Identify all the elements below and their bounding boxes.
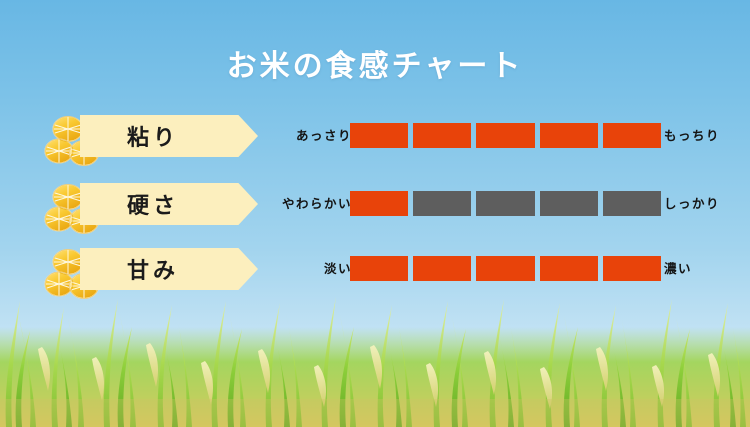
page-title: お米の食感チャート — [0, 41, 750, 85]
meter-segment — [540, 256, 598, 281]
meter-segment — [350, 256, 408, 281]
meter-segment — [413, 123, 471, 148]
meter-segment — [413, 191, 471, 216]
scale-high-label: しっかり — [664, 193, 720, 212]
meter-segment — [413, 256, 471, 281]
chart-row-nebari: 粘り あっさり もっちり — [0, 112, 750, 160]
scale-low-label: 淡い — [324, 258, 352, 277]
chart-row-amami: 甘み 淡い 濃い — [0, 245, 750, 293]
scale-low-label: やわらかい — [282, 193, 352, 212]
scale-meter — [350, 256, 661, 281]
scale-high-label: 濃い — [664, 258, 692, 277]
row-label-banner: 粘り — [80, 115, 258, 157]
meter-segment — [603, 191, 661, 216]
row-label-banner: 甘み — [80, 248, 258, 290]
chart-canvas: お米の食感チャート — [0, 0, 750, 427]
meter-segment — [540, 123, 598, 148]
row-label-text: 硬さ — [127, 188, 179, 220]
meter-segment — [350, 123, 408, 148]
meter-segment — [603, 123, 661, 148]
scale-high-label: もっちり — [664, 125, 720, 144]
chart-row-katasa: 硬さ やわらかい しっかり — [0, 180, 750, 228]
row-label-text: 粘り — [127, 120, 179, 152]
meter-segment — [540, 191, 598, 216]
scale-meter — [350, 123, 661, 148]
meter-segment — [350, 191, 408, 216]
scale-meter — [350, 191, 661, 216]
meter-segment — [476, 191, 534, 216]
row-label-banner: 硬さ — [80, 183, 258, 225]
scale-low-label: あっさり — [296, 125, 352, 144]
meter-segment — [603, 256, 661, 281]
rice-field-background — [0, 287, 750, 427]
meter-segment — [476, 256, 534, 281]
row-label-text: 甘み — [127, 253, 179, 285]
meter-segment — [476, 123, 534, 148]
